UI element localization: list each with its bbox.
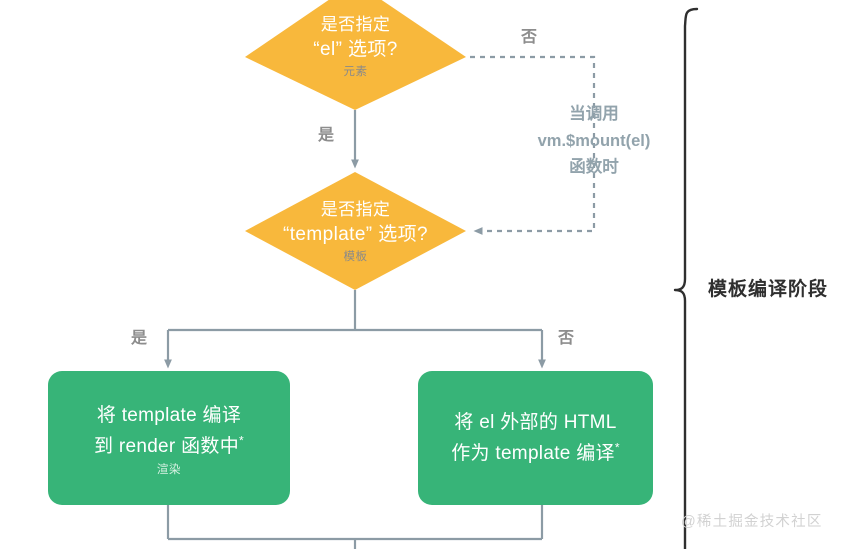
- process-compile-template-line2-text: 到 render 函数中: [94, 436, 239, 457]
- decision-el-line1: 是否指定: [321, 13, 391, 37]
- decision-el-node[interactable]: 是否指定 “el” 选项? 元素: [245, 0, 466, 110]
- process-compile-template-line2: 到 render 函数中*: [94, 431, 244, 462]
- decision-template-line2: “template” 选项?: [283, 222, 428, 249]
- edge-label-el-no: 否: [521, 30, 537, 46]
- decision-template-subtitle: 模板: [344, 252, 368, 264]
- process-outer-html-node[interactable]: 将 el 外部的 HTML 作为 template 编译*: [418, 371, 653, 505]
- edge-label-template-no: 否: [558, 331, 574, 347]
- watermark: @稀土掘金技术社区: [681, 515, 823, 530]
- mount-note: 当调用 vm.$mount(el) 函数时: [505, 101, 683, 181]
- edge-label-el-yes: 是: [318, 128, 334, 144]
- process-compile-template-node[interactable]: 将 template 编译 到 render 函数中* 渲染: [48, 371, 290, 505]
- edge-label-template-yes: 是: [131, 331, 147, 347]
- process-compile-template-subtitle: 渲染: [157, 465, 181, 477]
- mount-note-line2: vm.$mount(el): [505, 128, 683, 155]
- decision-el-subtitle: 元素: [344, 67, 368, 79]
- process-outer-html-line1: 将 el 外部的 HTML: [454, 407, 616, 438]
- decision-el-line2: “el” 选项?: [313, 37, 398, 64]
- phase-bracket: [675, 9, 697, 549]
- decision-template-line1: 是否指定: [321, 198, 391, 222]
- mount-note-line1: 当调用: [505, 101, 683, 128]
- process-outer-html-line2: 作为 template 编译*: [451, 438, 620, 469]
- phase-label-template-compile: 模板编译阶段: [708, 280, 828, 299]
- decision-template-node[interactable]: 是否指定 “template” 选项? 模板: [245, 172, 466, 290]
- process-outer-html-line2-text: 作为 template 编译: [451, 443, 615, 464]
- mount-note-line3: 函数时: [505, 154, 683, 181]
- flowchart-canvas: 是否指定 “el” 选项? 元素 是否指定 “template” 选项? 模板 …: [0, 0, 859, 549]
- footnote-star-right: *: [615, 441, 620, 455]
- footnote-star-left: *: [239, 434, 244, 448]
- process-compile-template-line1: 将 template 编译: [97, 400, 241, 431]
